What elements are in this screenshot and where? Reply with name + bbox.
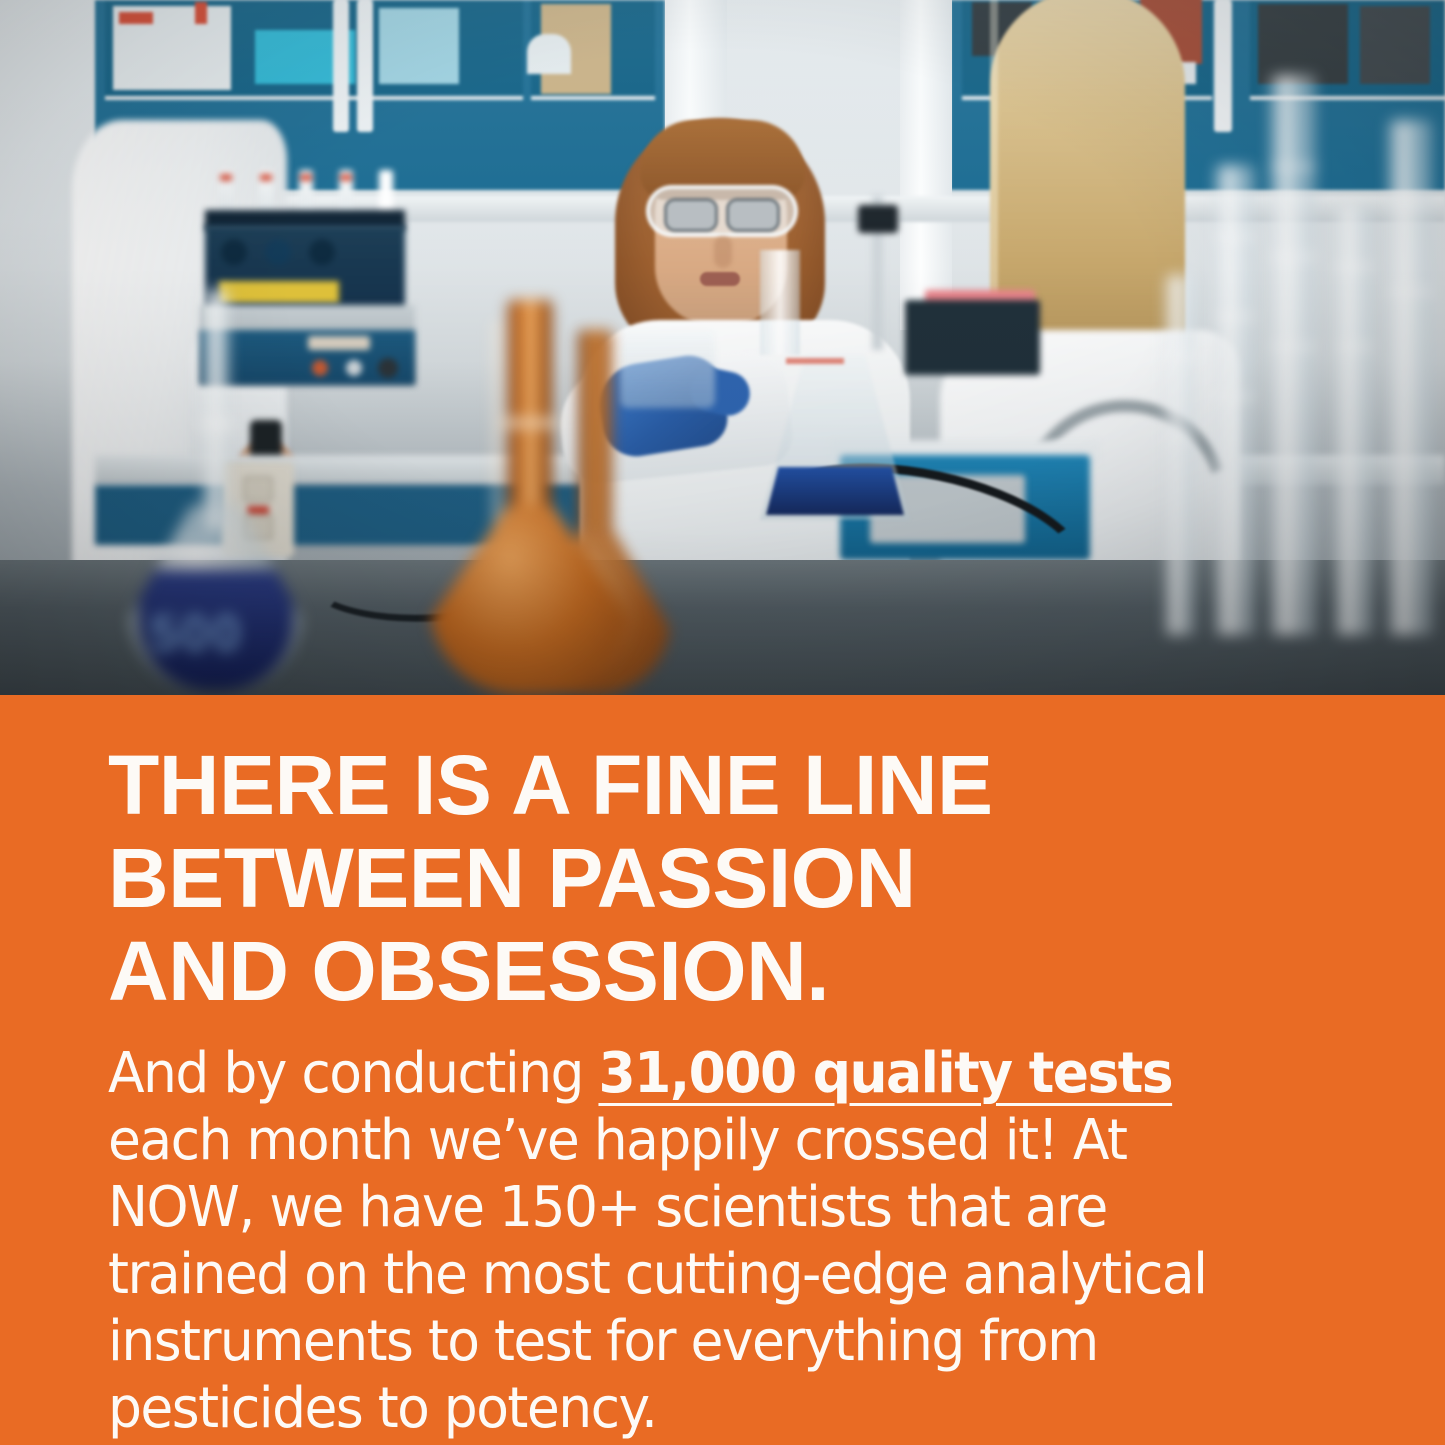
headline-line-2: BETWEEN PASSION <box>108 832 1308 925</box>
lab-photo: 500 <box>0 0 1445 695</box>
headline-line-3: AND OBSESSION. <box>108 925 1308 1018</box>
quality-tests-emphasis: 31,000 quality tests <box>598 1041 1172 1106</box>
page-title: THERE IS A FINE LINE BETWEEN PASSION AND… <box>108 739 1308 1018</box>
marketing-card: 500 THERE IS A FINE LINE BETWEEN PASSION… <box>0 0 1445 1445</box>
body-text-before: And by conducting <box>108 1041 598 1106</box>
body-text-after: each month we’ve happily crossed it! At … <box>108 1108 1206 1441</box>
body-paragraph: And by conducting 31,000 quality tests e… <box>108 1040 1283 1442</box>
headline-line-1: THERE IS A FINE LINE <box>108 739 1308 832</box>
photo-vignette <box>0 0 1445 695</box>
